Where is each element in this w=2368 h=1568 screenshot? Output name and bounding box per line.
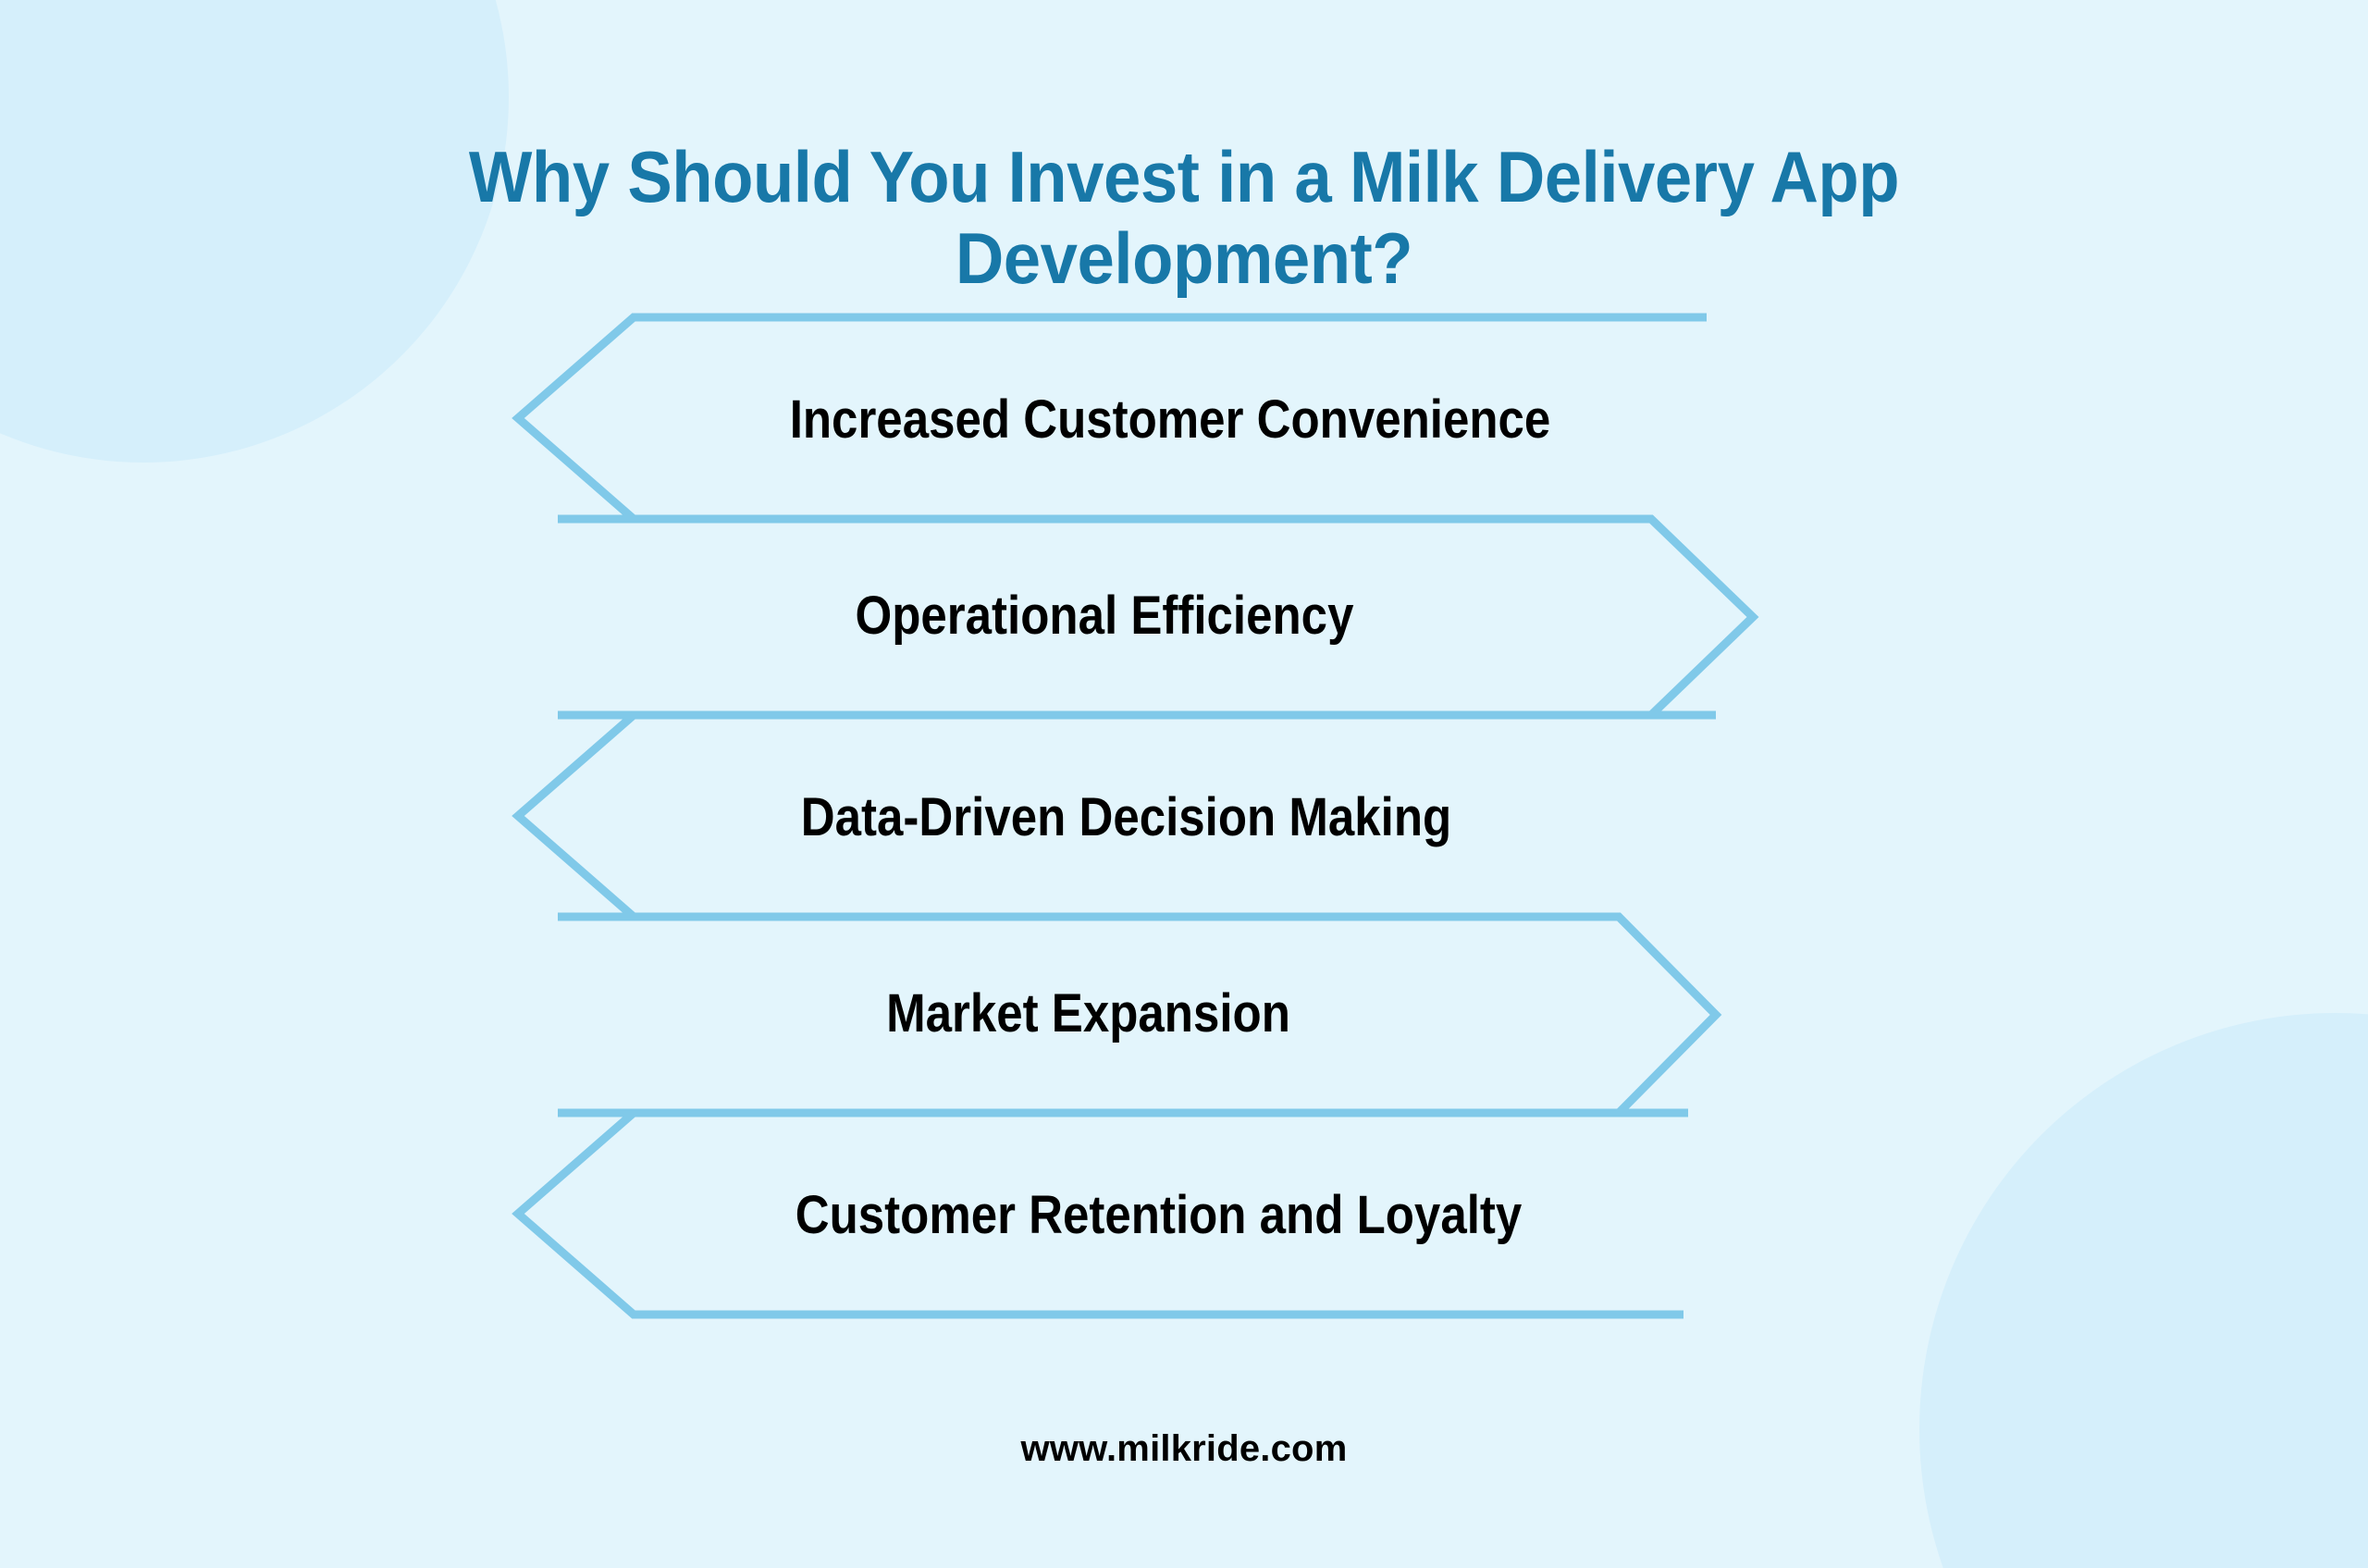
chevron-label-5: Customer Retention and Loyalty bbox=[697, 1184, 1621, 1246]
page-title-line-1: Why Should You Invest in a Milk Delivery… bbox=[83, 137, 2286, 217]
chevron-label-3: Data-Driven Decision Making bbox=[693, 786, 1560, 848]
chevron-label-4: Market Expansion bbox=[622, 982, 1555, 1044]
infographic-canvas: Why Should You Invest in a Milk Delivery… bbox=[0, 0, 2368, 1568]
page-title: Why Should You Invest in a Milk Delivery… bbox=[83, 137, 2286, 299]
chevron-label-2: Operational Efficiency bbox=[623, 585, 1585, 647]
decorative-circle-bottom-right bbox=[1919, 1013, 2368, 1568]
chevron-label-1: Increased Customer Convenience bbox=[698, 389, 1643, 451]
page-title-line-2: Development? bbox=[83, 218, 2286, 299]
footer-website: www.milkride.com bbox=[0, 1428, 2368, 1470]
chevron-list: Increased Customer Convenience Operation… bbox=[513, 305, 1855, 1355]
